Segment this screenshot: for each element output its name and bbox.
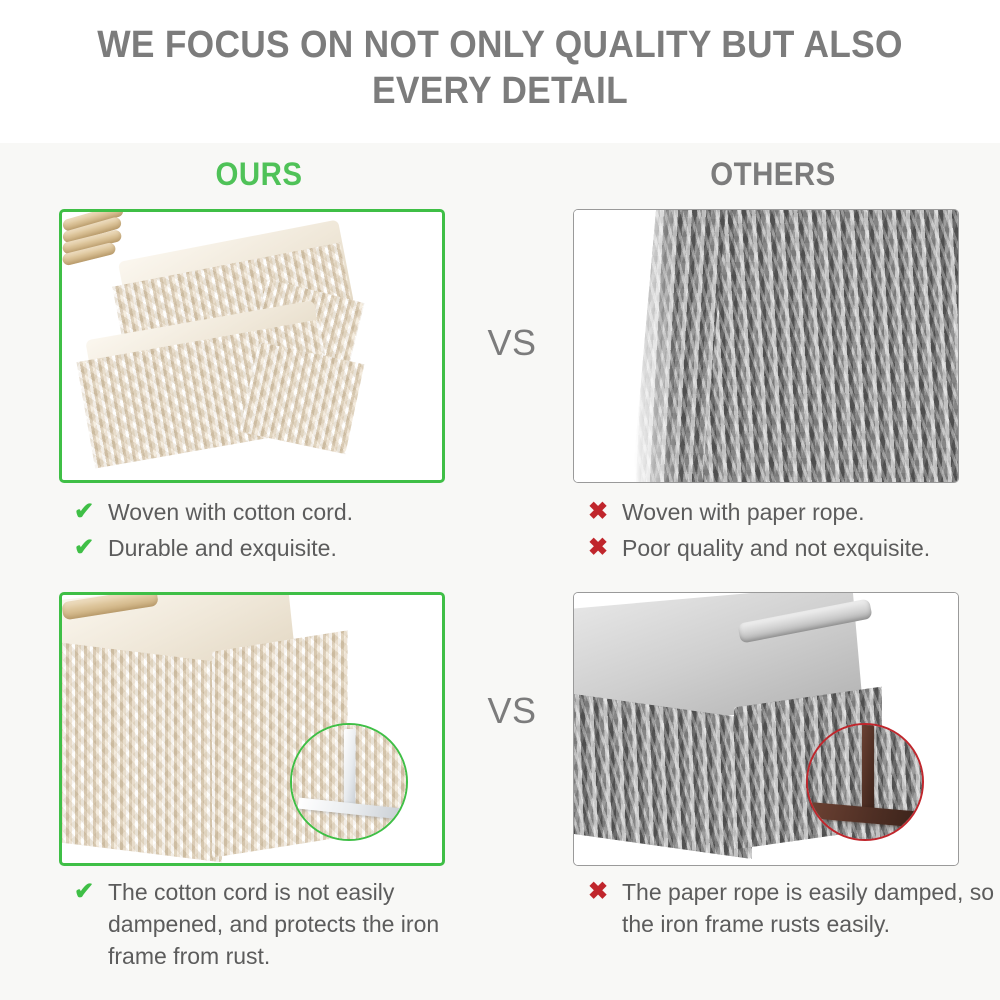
cross-icon: ✖ bbox=[588, 496, 608, 528]
photo-cream-basket-corner bbox=[62, 595, 442, 863]
bullet-list-others-top: ✖ Woven with paper rope. ✖ Poor quality … bbox=[588, 496, 1000, 568]
page-title: WE FOCUS ON NOT ONLY QUALITY BUT ALSO EV… bbox=[91, 22, 909, 114]
photo-cream-stacked-baskets bbox=[62, 212, 442, 480]
bullet-list-ours-bottom: ✔ The cotton cord is not easily dampened… bbox=[74, 876, 494, 976]
vs-separator-bottom: VS bbox=[462, 690, 562, 732]
column-heading-ours: OURS bbox=[75, 156, 443, 193]
vs-separator-top: VS bbox=[462, 322, 562, 364]
zoom-inset-rusted-frame bbox=[806, 723, 924, 841]
list-item-label: The cotton cord is not easily dampened, … bbox=[108, 876, 494, 972]
check-icon: ✔ bbox=[74, 496, 94, 528]
cross-icon: ✖ bbox=[588, 532, 608, 564]
photo-gray-basket-corner bbox=[574, 593, 958, 865]
check-icon: ✔ bbox=[74, 532, 94, 564]
photo-panel-others-bottom bbox=[573, 592, 959, 866]
list-item-label: Woven with cotton cord. bbox=[108, 496, 494, 528]
column-heading-others: OTHERS bbox=[589, 156, 957, 193]
list-item: ✔ Woven with cotton cord. bbox=[74, 496, 494, 528]
bullet-list-others-bottom: ✖ The paper rope is easily damped, so th… bbox=[588, 876, 1000, 944]
list-item-label: Durable and exquisite. bbox=[108, 532, 494, 564]
list-item: ✖ Woven with paper rope. bbox=[588, 496, 1000, 528]
photo-panel-others-top bbox=[573, 209, 959, 483]
check-icon: ✔ bbox=[74, 876, 94, 908]
list-item-label: Woven with paper rope. bbox=[622, 496, 1000, 528]
list-item: ✖ Poor quality and not exquisite. bbox=[588, 532, 1000, 564]
photo-panel-ours-bottom bbox=[59, 592, 445, 866]
photo-panel-ours-top bbox=[59, 209, 445, 483]
list-item: ✖ The paper rope is easily damped, so th… bbox=[588, 876, 1000, 940]
iron-frame-post-rusted bbox=[862, 725, 874, 817]
cross-icon: ✖ bbox=[588, 876, 608, 908]
photo-gray-paper-rope-weave bbox=[574, 210, 958, 482]
zoom-inset-clean-frame bbox=[290, 723, 408, 841]
list-item-label: The paper rope is easily damped, so the … bbox=[622, 876, 1000, 940]
comparison-infographic: WE FOCUS ON NOT ONLY QUALITY BUT ALSO EV… bbox=[0, 0, 1000, 1000]
list-item: ✔ Durable and exquisite. bbox=[74, 532, 494, 564]
list-item-label: Poor quality and not exquisite. bbox=[622, 532, 1000, 564]
iron-frame-post bbox=[344, 729, 355, 811]
list-item: ✔ The cotton cord is not easily dampened… bbox=[74, 876, 494, 972]
bullet-list-ours-top: ✔ Woven with cotton cord. ✔ Durable and … bbox=[74, 496, 494, 568]
